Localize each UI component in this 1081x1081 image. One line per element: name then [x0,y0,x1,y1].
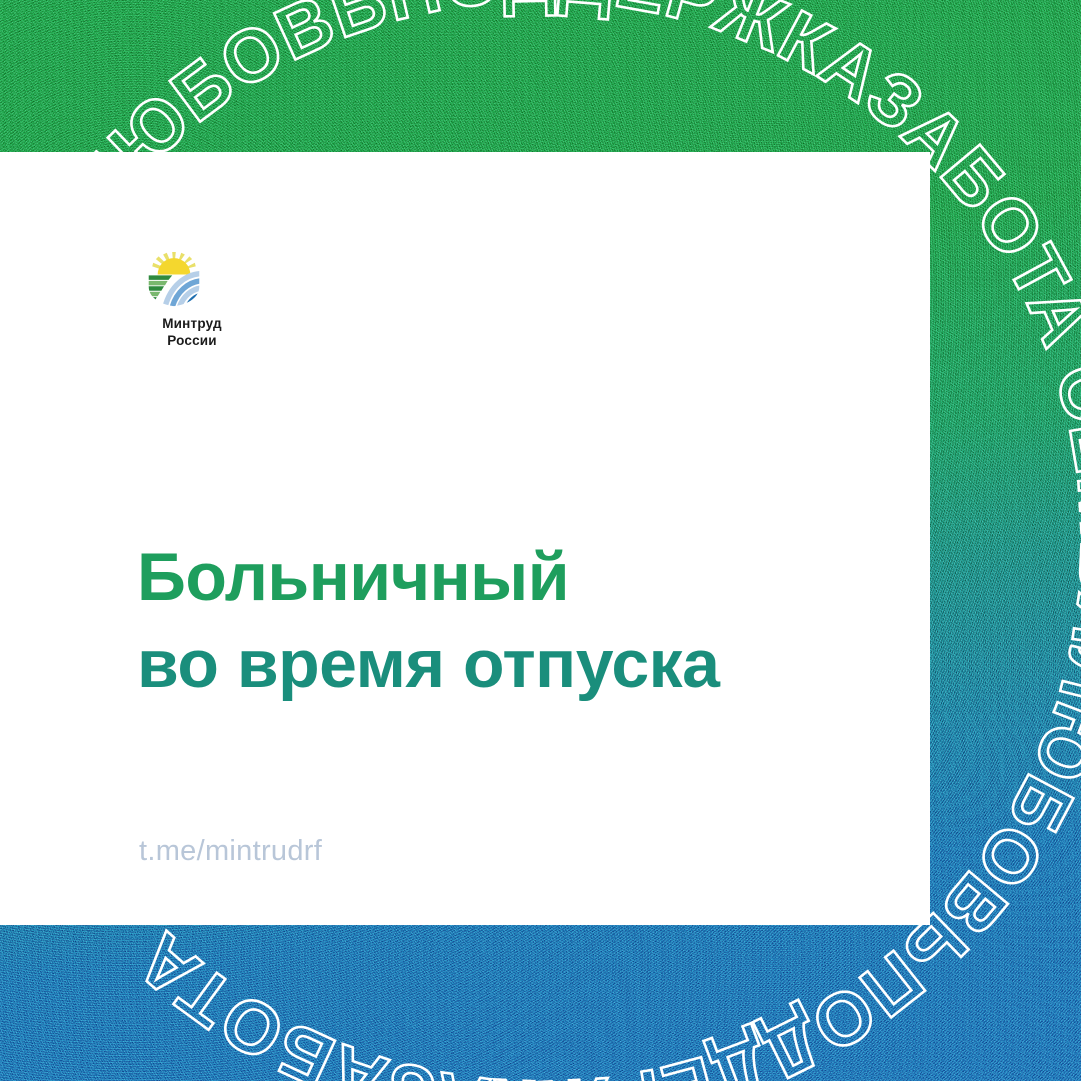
mintrud-logo: Минтруд России [137,250,297,350]
logo-caption-line2: России [137,333,247,350]
mintrud-emblem-icon [145,250,203,308]
mintrud-logo-caption: Минтруд России [137,316,247,350]
telegram-url[interactable]: t.me/mintrudrf [139,835,322,868]
logo-caption-line1: Минтруд [137,316,247,333]
headline-line-2: во время отпуска [137,621,897,708]
poster-canvas: СЕМЬЯЛЮБОВЬПОДДЕРЖКАЗАБОТА СЕМЬЯЛЮБОВЬПО… [0,0,1081,1081]
headline-line-1: Больничный [137,534,897,621]
headline: Больничный во время отпуска [137,534,897,708]
